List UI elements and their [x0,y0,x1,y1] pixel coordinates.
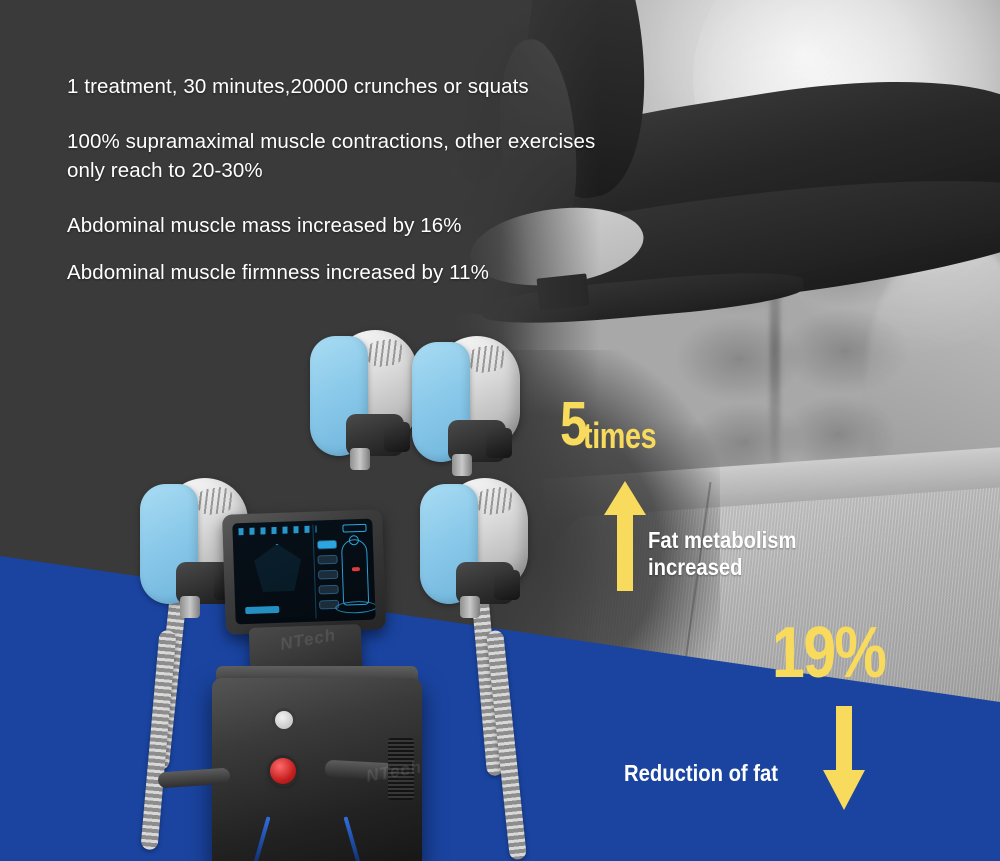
handpiece-clip [494,570,520,600]
screen-menu-item[interactable] [317,555,337,565]
benefit-bullet-1: 1 treatment, 30 minutes,20000 crunches o… [67,72,627,101]
screen-treatment-zone-marker [352,567,360,571]
machine-vent-grill [388,738,414,800]
accent-stripe-left [253,816,270,861]
metabolism-label: Fat metabolism increased [648,527,815,581]
screen-radar-chart [249,543,307,599]
handpiece-neck [350,448,370,470]
metabolism-label-line2: increased [648,554,815,581]
screen-body-figure [341,539,369,606]
screen-start-button[interactable] [245,606,279,614]
screen-menu-item[interactable] [318,570,338,580]
machine-screen-bezel [222,509,386,635]
screen-divider [312,525,316,619]
poster-canvas: 1 treatment, 30 minutes,20000 crunches o… [0,0,1000,861]
metabolism-label-line1: Fat metabolism [648,527,815,554]
arrow-down-icon [823,706,865,810]
handpiece-neck [460,596,480,618]
handpiece-clip [384,422,410,452]
screen-start-button-fill [245,606,279,614]
fat-reduction-label: Reduction of fat [624,760,778,786]
handpiece-neck [452,454,472,476]
benefit-bullet-3: Abdominal muscle mass increased by 16% [67,211,627,240]
machine-latch-knob[interactable] [272,708,296,732]
screen-figure-base-ring [335,600,376,613]
handpiece-neck [180,596,200,618]
fat-reduction-value: 19% [772,617,885,689]
screen-menu-list[interactable] [317,540,340,616]
ems-sculpting-machine: NTech NTech [120,330,560,861]
benefit-bullet-list: 1 treatment, 30 minutes,20000 crunches o… [67,72,627,305]
benefit-bullet-2: 100% supramaximal muscle contractions, o… [67,127,627,185]
screen-menu-item[interactable] [317,540,337,550]
screen-status-bar [238,526,316,536]
metabolism-unit: times [583,418,656,454]
machine-touchscreen[interactable] [232,519,375,625]
arrow-up-icon [604,481,646,591]
accent-stripe-right [343,816,360,861]
machine-accent-stripes [240,818,390,861]
handpiece-clip [486,428,512,458]
emergency-stop-button[interactable] [270,758,296,784]
metabolism-stat: 5times [560,396,675,454]
benefit-bullet-4: Abdominal muscle firmness increased by 1… [67,258,627,287]
screen-battery-icon [342,524,366,533]
screen-menu-item[interactable] [318,585,338,595]
